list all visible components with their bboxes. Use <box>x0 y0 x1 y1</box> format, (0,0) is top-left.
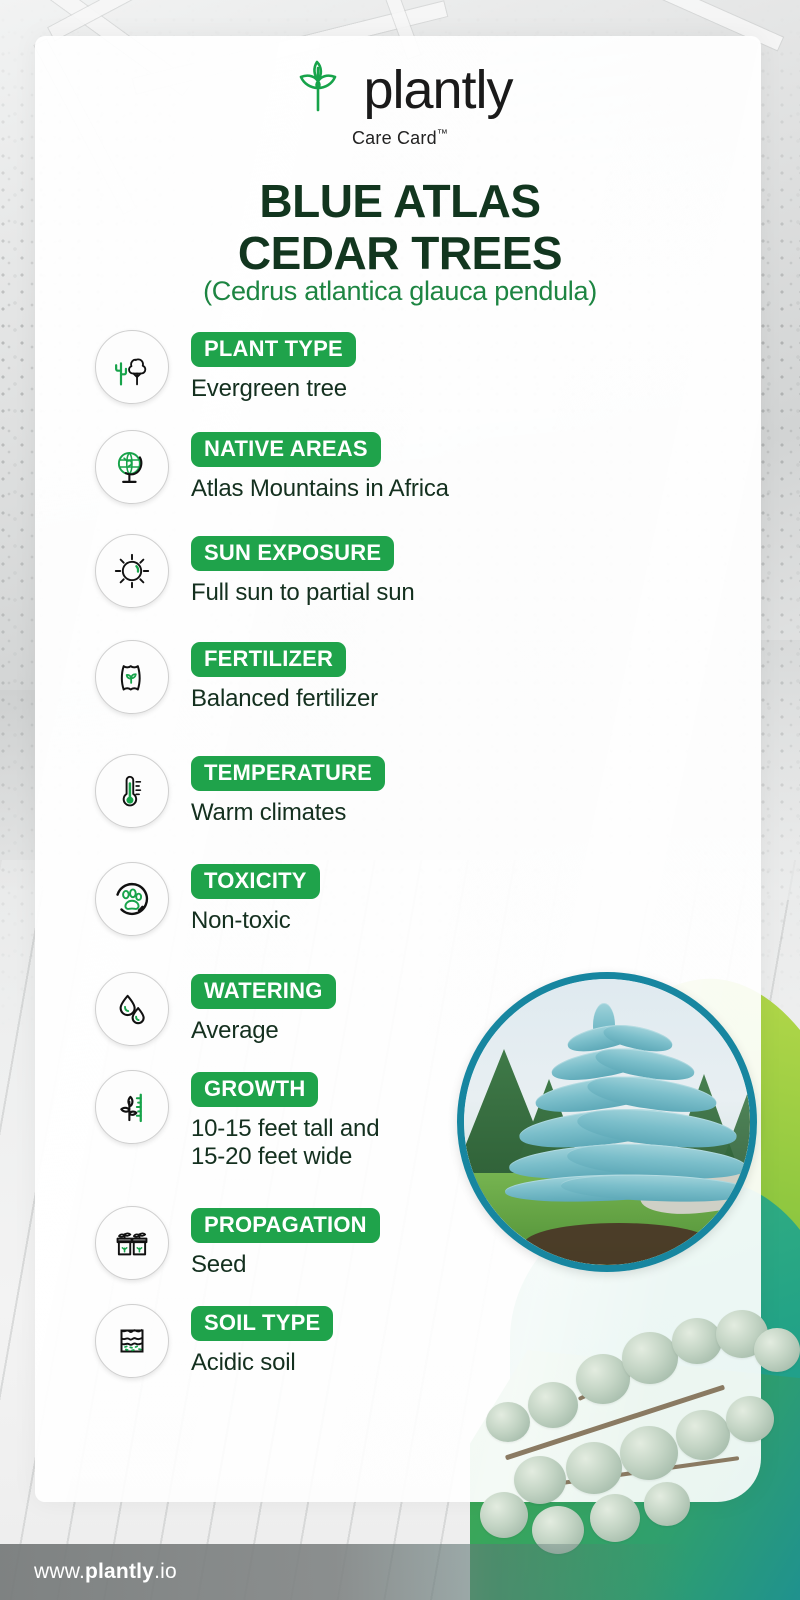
attribute-value: Acidic soil <box>191 1349 333 1377</box>
attribute-value: Evergreen tree <box>191 375 356 403</box>
url-brand: plantly <box>85 1560 154 1583</box>
title-line-2: CEDAR TREES <box>0 228 800 280</box>
water-drops-icon <box>95 972 169 1046</box>
list-item: PLANT TYPE Evergreen tree <box>0 330 800 430</box>
care-card-text: Care Card <box>352 128 437 148</box>
list-item: NATIVE AREAS Atlas Mountains in Africa <box>0 430 800 534</box>
trademark-symbol: ™ <box>437 128 448 140</box>
attribute-value: Average <box>191 1017 336 1045</box>
url-suffix: .io <box>154 1560 177 1583</box>
footer-bar: www.plantly.io <box>0 1544 800 1600</box>
url-prefix: www. <box>34 1560 85 1583</box>
soil-layers-icon <box>95 1304 169 1378</box>
attribute-label-badge: WATERING <box>191 974 336 1009</box>
cedar-branch-decor <box>480 1270 800 1570</box>
paw-print-icon <box>95 862 169 936</box>
attribute-label-badge: NATIVE AREAS <box>191 432 381 467</box>
attribute-label-badge: FERTILIZER <box>191 642 346 677</box>
fertilizer-bag-icon <box>95 640 169 714</box>
care-card-infographic: plantly Care Card™ BLUE ATLAS CEDAR TREE… <box>0 0 800 1600</box>
page-title: BLUE ATLAS CEDAR TREES <box>0 176 800 279</box>
seedling-pots-icon <box>95 1206 169 1280</box>
attribute-label-badge: TEMPERATURE <box>191 756 385 791</box>
sun-icon <box>95 534 169 608</box>
list-item: TEMPERATURE Warm climates <box>0 754 800 862</box>
attribute-value: Atlas Mountains in Africa <box>191 475 449 503</box>
globe-stand-icon <box>95 430 169 504</box>
attribute-label-badge: SOIL TYPE <box>191 1306 333 1341</box>
brand-name: plantly <box>363 63 512 117</box>
brand-header: plantly <box>0 58 800 121</box>
tree-cactus-icon <box>95 330 169 404</box>
attribute-label-badge: GROWTH <box>191 1072 318 1107</box>
care-card-subtitle: Care Card™ <box>0 128 800 149</box>
attribute-value: Balanced fertilizer <box>191 685 378 713</box>
attribute-value: Full sun to partial sun <box>191 579 415 607</box>
plant-ruler-icon <box>95 1070 169 1144</box>
attribute-value: Seed <box>191 1251 380 1279</box>
list-item: FERTILIZER Balanced fertilizer <box>0 640 800 754</box>
title-line-1: BLUE ATLAS <box>0 176 800 228</box>
attribute-label-badge: SUN EXPOSURE <box>191 536 394 571</box>
thermometer-icon <box>95 754 169 828</box>
website-url[interactable]: www.plantly.io <box>0 1560 177 1584</box>
list-item: SUN EXPOSURE Full sun to partial sun <box>0 534 800 640</box>
blue-atlas-cedar-photo <box>457 972 757 1272</box>
attribute-value: Non-toxic <box>191 907 320 935</box>
scientific-name: (Cedrus atlantica glauca pendula) <box>0 276 800 307</box>
plantly-leaf-logo-icon <box>287 58 349 121</box>
list-item: TOXICITY Non-toxic <box>0 862 800 972</box>
attribute-value: 10-15 feet tall and 15-20 feet wide <box>191 1115 379 1172</box>
attribute-label-badge: TOXICITY <box>191 864 320 899</box>
attribute-value: Warm climates <box>191 799 385 827</box>
attribute-label-badge: PLANT TYPE <box>191 332 356 367</box>
attribute-label-badge: PROPAGATION <box>191 1208 380 1243</box>
